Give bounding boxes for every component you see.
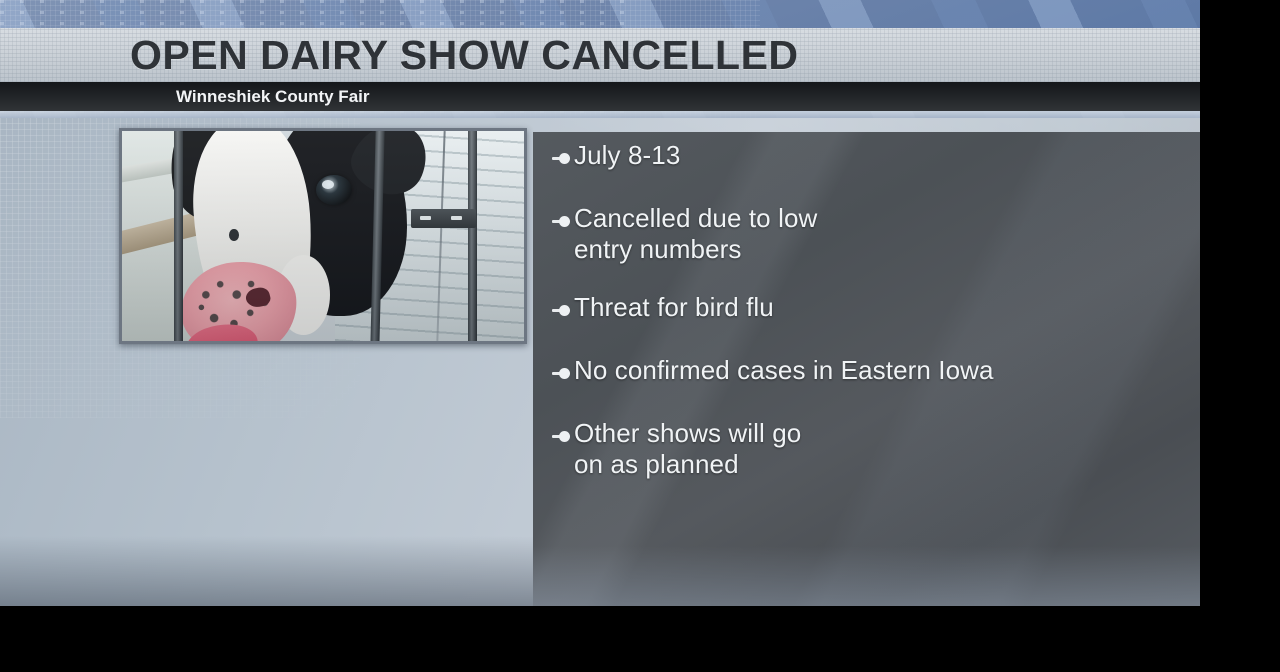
list-item: July 8-13 — [552, 140, 680, 174]
bullet-point-icon — [552, 422, 574, 452]
letterbox-bottom — [0, 606, 1280, 672]
bullet-text: Cancelled due to low entry numbers — [574, 203, 817, 265]
bullet-point-icon — [552, 144, 574, 174]
bullet-text: No confirmed cases in Eastern Iowa — [574, 355, 994, 386]
bullet-list: July 8-13 Cancelled due to low entry num… — [552, 132, 1200, 606]
photo-vignette — [122, 131, 524, 341]
list-item: Other shows will go on as planned — [552, 418, 801, 480]
list-item: No confirmed cases in Eastern Iowa — [552, 355, 994, 389]
list-item: Cancelled due to low entry numbers — [552, 203, 817, 265]
headline-text: OPEN DAIRY SHOW CANCELLED — [130, 30, 799, 80]
bullet-point-icon — [552, 359, 574, 389]
news-photo — [119, 128, 527, 344]
cow-photo-image — [122, 131, 524, 341]
subtitle-band-edge — [0, 111, 1200, 118]
bullet-text: July 8-13 — [574, 140, 680, 171]
subtitle-text: Winneshiek County Fair — [176, 84, 369, 109]
broadcast-screenshot: OPEN DAIRY SHOW CANCELLED Winneshiek Cou… — [0, 0, 1280, 672]
broadcast-frame: OPEN DAIRY SHOW CANCELLED Winneshiek Cou… — [0, 0, 1200, 606]
bullet-point-icon — [552, 296, 574, 326]
bullet-text: Other shows will go on as planned — [574, 418, 801, 480]
list-item: Threat for bird flu — [552, 292, 774, 326]
bullet-list-panel: July 8-13 Cancelled due to low entry num… — [533, 132, 1200, 606]
bullet-point-icon — [552, 207, 574, 237]
letterbox-right — [1200, 0, 1280, 672]
bullet-text: Threat for bird flu — [574, 292, 774, 323]
